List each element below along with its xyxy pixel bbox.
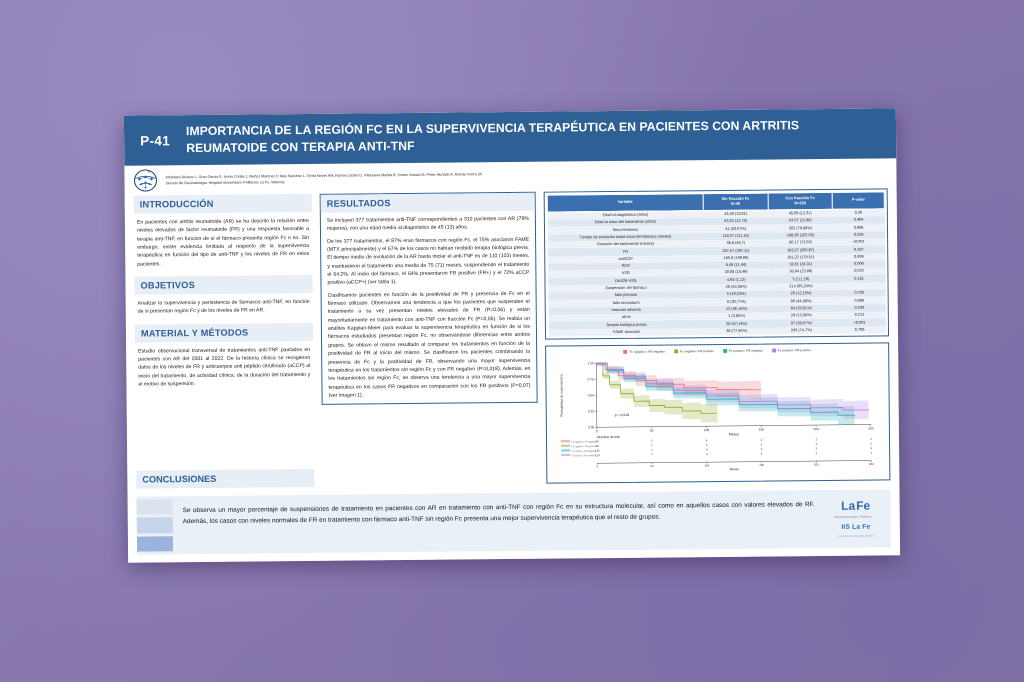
risk-count: 1 <box>761 438 763 442</box>
risk-count: 4 <box>706 452 708 456</box>
y-axis-tick-label: 0.00 <box>588 425 594 429</box>
results-table: Variable Sin fracción Fc N=49 Con fracci… <box>547 191 886 336</box>
col-header-sin-fc-n: N=49 <box>731 201 740 206</box>
risk-x-tick-label: 150 <box>759 463 764 467</box>
risk-count: 1 <box>761 451 763 455</box>
chart-confidence-band <box>596 360 868 422</box>
society-logo-icon <box>132 168 158 192</box>
risk-count: 29 <box>595 444 599 448</box>
legend-label: Fc positivo / FR negativo <box>729 348 763 352</box>
risk-row-label: Fc negativo / FR positivo <box>572 445 597 448</box>
col-header-sin-fc: Sin fracción Fc N=49 <box>703 193 768 210</box>
section-body-objetivos: Analizar la supervivencia y persistencia… <box>135 293 313 316</box>
risk-count: 1 <box>870 450 872 454</box>
risk-count: 1 <box>815 446 817 450</box>
risk-count: 4 <box>706 438 708 442</box>
kaplan-meier-svg: 0.000.250.500.751.00050100150200250Meses… <box>550 352 885 473</box>
legend-item: Fc positivo / FR negativo <box>723 348 763 352</box>
risk-count: 7 <box>651 439 653 443</box>
right-column: Variable Sin fracción Fc N=49 Con fracci… <box>544 188 891 483</box>
risk-row-label: Fc positivo / FR positivo <box>572 454 596 457</box>
resultados-paragraph-3: Clasificamos pacientes en función de la … <box>322 286 537 401</box>
risk-row-swatch-icon <box>561 444 570 446</box>
legend-swatch-icon <box>772 348 776 352</box>
risk-count: 1 <box>870 437 872 441</box>
risk-count: 1 <box>870 446 872 450</box>
risk-count: 1 <box>870 441 872 445</box>
risk-count: 1 <box>761 447 763 451</box>
poster-canvas: P-41 IMPORTANCIA DE LA REGIÓN FC EN LA S… <box>124 108 900 562</box>
decorative-chips <box>137 496 174 554</box>
col-header-pvalue: P-valor <box>832 192 884 209</box>
section-heading-introduccion: INTRODUCCIÓN <box>134 194 312 214</box>
y-axis-label: Probabilidad de supervivencia <box>559 374 563 417</box>
conclusiones-band: Se observa un mayor porcentaje de suspen… <box>137 489 892 554</box>
risk-x-tick-label: 100 <box>704 463 709 467</box>
section-body-conclusiones: Se observa un mayor porcentaje de suspen… <box>173 490 826 554</box>
legend-item: Fc negativo / FR negativo <box>624 349 665 353</box>
y-axis-tick-label: 0.75 <box>588 377 594 381</box>
chart-annotation: p = 0,018 <box>615 413 629 417</box>
cell-con-fc: 245 (74,7%) <box>769 326 834 334</box>
x-axis-label: Meses <box>729 432 740 436</box>
middle-column: RESULTADOS Se incluyen 377 tratamientos … <box>320 192 538 405</box>
section-heading-resultados: RESULTADOS <box>321 193 535 213</box>
lafe-fe-text: Fe <box>856 500 870 512</box>
risk-x-tick-label: 50 <box>650 464 654 468</box>
lafe-subtitle: Hospital Universitari i Politècnic <box>834 516 878 520</box>
section-body-introduccion: En pacientes con artritis reumatoide (AR… <box>134 212 313 269</box>
iis-lafe-subtitle: Instituto de Investigación Sanitaria <box>838 534 874 537</box>
risk-row-swatch-icon <box>561 440 570 442</box>
col-header-variable: Variable <box>547 194 703 212</box>
chip-1 <box>137 499 173 515</box>
x-axis-tick-label: 200 <box>813 427 819 431</box>
col-header-con-fc: Con fracción Fc N=328 <box>768 192 833 209</box>
results-table-panel: Variable Sin fracción Fc N=49 Con fracci… <box>544 188 889 339</box>
page-title: IMPORTANCIA DE LA REGIÓN FC EN LA SUPERV… <box>186 116 896 157</box>
risk-count: 7 <box>651 448 653 452</box>
chip-3 <box>137 536 173 552</box>
resultados-paragraph-2: De los 377 tratamientos, el 87% eran fár… <box>321 231 536 287</box>
x-axis-tick-label: 250 <box>868 426 874 430</box>
y-axis-tick-label: 0.50 <box>588 393 594 397</box>
kaplan-meier-panel: Fc negativo / FR negativoFc negativo / F… <box>545 342 890 483</box>
lafe-logo: La Fe Hospital Universitari i Politècnic… <box>824 489 891 548</box>
risk-row-swatch-icon <box>561 454 570 456</box>
risk-count: 1 <box>815 442 817 446</box>
risk-count: 4 <box>706 443 708 447</box>
x-axis-tick-label: 0 <box>596 429 598 433</box>
section-heading-objetivos: OBJETIVOS <box>134 275 312 295</box>
section-body-material: Estudio observacional transversal de tra… <box>135 341 313 389</box>
risk-x-tick-label: 250 <box>869 462 874 466</box>
x-axis-tick-label: 50 <box>650 428 654 432</box>
risk-table-title: Number at risk <box>597 435 620 439</box>
cell-sin-fc: 38 (77,55%) <box>704 327 769 335</box>
risk-x-tick-label: 200 <box>814 462 819 466</box>
risk-count: 213 <box>595 453 600 457</box>
risk-row-label: Fc negativo / FR negativo <box>572 440 598 443</box>
risk-x-tick-label: 0 <box>596 464 598 468</box>
risk-count: 20 <box>595 439 599 443</box>
risk-row-label: Fc positivo / FR negativo <box>572 449 597 452</box>
risk-count: 115 <box>595 448 600 452</box>
poster-code: P-41 <box>124 133 186 149</box>
iis-lafe-text: IIS La Fe <box>841 523 870 530</box>
poster-sheet: P-41 IMPORTANCIA DE LA REGIÓN FC EN LA S… <box>124 108 900 562</box>
chip-2 <box>137 518 173 534</box>
legend-label: Fc positivo / FR positivo <box>778 348 811 352</box>
resultados-paragraph-1: Se incluyen 377 tratamientos anti-TNF co… <box>321 211 535 234</box>
lafe-la-text: La <box>841 500 855 512</box>
x-axis-tick-label: 150 <box>759 427 765 431</box>
legend-label: Fc negativo / FR positivo <box>680 349 714 353</box>
legend-swatch-icon <box>723 349 727 353</box>
legend-swatch-icon <box>674 349 678 353</box>
risk-count: 4 <box>706 447 708 451</box>
left-column: INTRODUCCIÓN En pacientes con artritis r… <box>134 194 314 389</box>
section-heading-conclusiones: CONCLUSIONES <box>136 469 314 489</box>
risk-count: 1 <box>816 451 818 455</box>
poster-header: P-41 IMPORTANCIA DE LA REGIÓN FC EN LA S… <box>124 108 896 165</box>
risk-x-axis-label: Meses <box>730 467 740 471</box>
y-axis-tick-label: 0.25 <box>588 409 594 413</box>
cell-variable: FAME asociado <box>548 328 704 337</box>
table-body: Edad al diagnóstico (años)43,49 (13,91)4… <box>547 209 885 337</box>
legend-swatch-icon <box>624 350 628 354</box>
legend-label: Fc negativo / FR negativo <box>630 349 665 353</box>
legend-item: Fc negativo / FR positivo <box>674 349 714 353</box>
y-axis-tick-label: 1.00 <box>587 361 593 365</box>
legend-item: Fc positivo / FR positivo <box>772 348 811 352</box>
risk-count: 1 <box>761 442 763 446</box>
resultados-panel: RESULTADOS Se incluyen 377 tratamientos … <box>320 192 538 405</box>
risk-count: 7 <box>651 443 653 447</box>
risk-row-swatch-icon <box>561 449 570 451</box>
risk-count: 7 <box>651 452 653 456</box>
cell-pvalue: 0,799 <box>834 326 886 334</box>
section-heading-material: MATERIAL Y MÉTODOS <box>135 323 313 343</box>
x-axis-tick-label: 100 <box>704 428 710 432</box>
col-header-con-fc-n: N=328 <box>794 200 806 205</box>
chart-plot-area: 0.000.250.500.751.00050100150200250Meses… <box>550 352 885 478</box>
risk-count: 1 <box>815 437 817 441</box>
